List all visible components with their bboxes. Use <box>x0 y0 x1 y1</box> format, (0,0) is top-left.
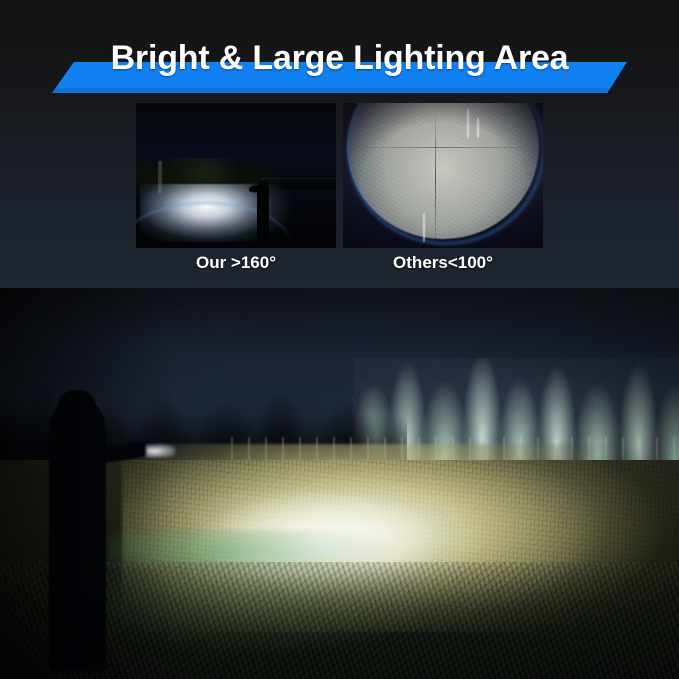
page-title: Bright & Large Lighting Area <box>0 36 679 80</box>
comparison-image-ours <box>136 103 336 248</box>
caption-ours: Our >160° <box>136 253 336 273</box>
others-vignette <box>343 103 543 248</box>
comparison-image-others <box>343 103 543 248</box>
ours-fence <box>262 178 334 201</box>
caption-others: Others<100° <box>343 253 543 273</box>
product-feature-poster: Bright & Large Lighting Area <box>0 0 679 679</box>
ours-person-silhouette <box>257 181 269 240</box>
hero-photo <box>0 288 679 679</box>
headline-banner: Bright & Large Lighting Area <box>0 36 679 92</box>
hero-vignette <box>0 288 679 679</box>
beam-comparison-gallery <box>136 103 543 248</box>
